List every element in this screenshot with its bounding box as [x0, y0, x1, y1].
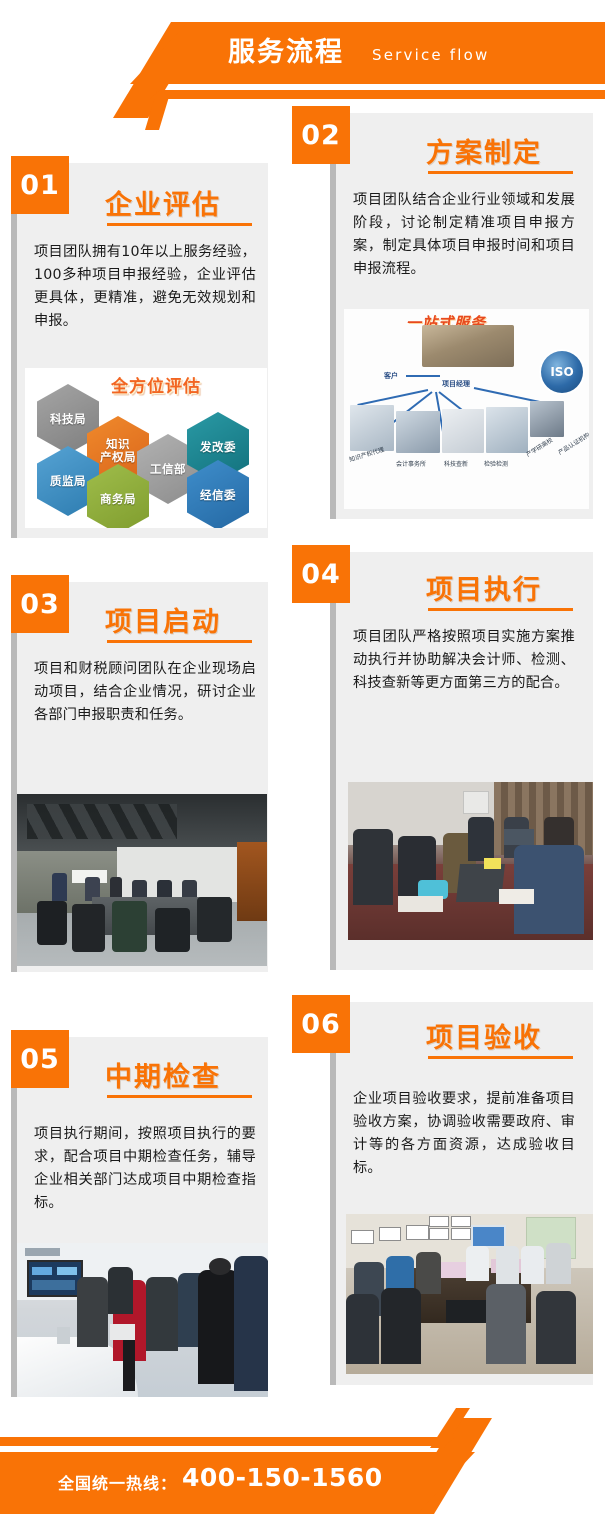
- page-title: 服务流程: [228, 34, 344, 72]
- step-badge-label: 06: [301, 1009, 341, 1040]
- header-stripe: [150, 90, 605, 99]
- step-title-04: 项目执行: [426, 568, 542, 607]
- hexagon-node-label: 知识 产权局: [100, 438, 136, 464]
- service-thumb-ip: [350, 405, 394, 451]
- step-badge-label: 04: [301, 559, 341, 590]
- service-leaf-label: 科技查新: [444, 459, 468, 468]
- hexagon-assessment-figure: 全方位评估 科技局 知识 产权局 质监局 工信部 商务局 发改委 经信委: [25, 368, 267, 528]
- step-body-06: 企业项目验收要求，提前准备项目验收方案，协调验收需要政府、审计等的各方面资源，达…: [353, 1088, 575, 1180]
- footer-stripe: [0, 1437, 455, 1446]
- step-badge-02: 02: [292, 106, 350, 164]
- step-title-03: 项目启动: [105, 600, 221, 639]
- hexagon-node-label: 经信委: [200, 489, 236, 502]
- step-title-rule-05: [107, 1095, 252, 1098]
- step-badge-03: 03: [11, 575, 69, 633]
- page-subtitle: Service flow: [372, 44, 490, 66]
- iso-certification-badge: ISO: [541, 351, 583, 393]
- step-card-03: 项目启动 项目和财税顾问团队在企业现场启动项目，结合企业情况，研讨企业各部门申报…: [11, 582, 268, 972]
- hexagon-node-label: 科技局: [50, 413, 86, 426]
- hotline-label: 全国统一热线：: [58, 1470, 177, 1494]
- step-title-rule-06: [428, 1056, 573, 1059]
- step-photo-04: [348, 782, 593, 940]
- step-body-03: 项目和财税顾问团队在企业现场启动项目，结合企业情况，研讨企业各部门申报职责和任务…: [34, 658, 256, 727]
- hotline-number[interactable]: 400-150-1560: [182, 1463, 383, 1492]
- step-card-05: 中期检查 项目执行期间，按照项目执行的要求，配合项目中期检查任务，辅导企业相关部…: [11, 1037, 268, 1397]
- step-photo-03: [17, 794, 267, 966]
- one-stop-service-figure: 一站式服务 客户 项目经理 ISO 知识产权代理 会计事务所 科技查新 检验检测…: [344, 309, 589, 509]
- step-badge-04: 04: [292, 545, 350, 603]
- step-title-rule-01: [107, 223, 252, 226]
- service-center-photo: [422, 325, 514, 367]
- hexagon-node-label: 工信部: [150, 463, 186, 476]
- service-thumb-accounting: [396, 411, 440, 453]
- step-body-04: 项目团队严格按照项目实施方案推动执行并协助解决会计师、检测、科技查新等更方面第三…: [353, 626, 575, 695]
- service-node-manager: 项目经理: [442, 379, 470, 389]
- hexagon-node-label: 商务局: [100, 493, 136, 506]
- step-title-rule-02: [428, 171, 573, 174]
- service-leaf-label: 会计事务所: [396, 459, 426, 468]
- step-body-05: 项目执行期间，按照项目执行的要求，配合项目中期检查任务，辅导企业相关部门达成项目…: [34, 1123, 256, 1215]
- header-band: [130, 22, 605, 84]
- step-card-02: 方案制定 项目团队结合企业行业领域和发展阶段，讨论制定精准项目申报方案，制定具体…: [330, 113, 593, 519]
- header: 服务流程 Service flow: [0, 0, 605, 118]
- step-body-02: 项目团队结合企业行业领域和发展阶段，讨论制定精准项目申报方案，制定具体项目申报时…: [353, 189, 575, 281]
- step-title-rule-04: [428, 608, 573, 611]
- step-photo-05: [17, 1243, 268, 1397]
- hexagon-figure-title: 全方位评估: [111, 372, 201, 397]
- service-thumb-university: [530, 401, 564, 437]
- service-flow-infographic: 服务流程 Service flow 企业评估 项目团队拥有10年以上服务经验，1…: [0, 0, 605, 1538]
- hexagon-node-label: 质监局: [50, 475, 86, 488]
- service-thumb-research: [442, 409, 484, 453]
- step-card-06: 项目验收 企业项目验收要求，提前准备项目验收方案，协调验收需要政府、审计等的各方…: [330, 1002, 593, 1385]
- service-leaf-label: 产学研高校: [524, 435, 554, 459]
- service-thumb-testing: [486, 407, 528, 453]
- step-badge-06: 06: [292, 995, 350, 1053]
- service-arrow: [406, 375, 440, 377]
- step-title-rule-03: [107, 640, 252, 643]
- service-leaf-label: 检验检测: [484, 459, 508, 468]
- step-title-01: 企业评估: [105, 183, 221, 222]
- hexagon-node-label: 发改委: [200, 441, 236, 454]
- step-title-06: 项目验收: [426, 1016, 542, 1055]
- step-badge-05: 05: [11, 1030, 69, 1088]
- step-badge-label: 05: [20, 1044, 60, 1075]
- step-photo-06: [346, 1214, 593, 1374]
- footer: 全国统一热线： 400-150-1560: [0, 1408, 605, 1538]
- step-title-05: 中期检查: [105, 1055, 221, 1094]
- step-body-01: 项目团队拥有10年以上服务经验，100多种项目申报经验，企业评估更具体，更精准，…: [34, 241, 256, 333]
- step-badge-label: 03: [20, 589, 60, 620]
- step-card-04: 项目执行 项目团队严格按照项目实施方案推动执行并协助解决会计师、检测、科技查新等…: [330, 552, 593, 970]
- step-card-01: 企业评估 项目团队拥有10年以上服务经验，100多种项目申报经验，企业评估更具体…: [11, 163, 268, 538]
- step-badge-01: 01: [11, 156, 69, 214]
- service-node-customer: 客户: [384, 371, 398, 381]
- step-title-02: 方案制定: [426, 131, 542, 170]
